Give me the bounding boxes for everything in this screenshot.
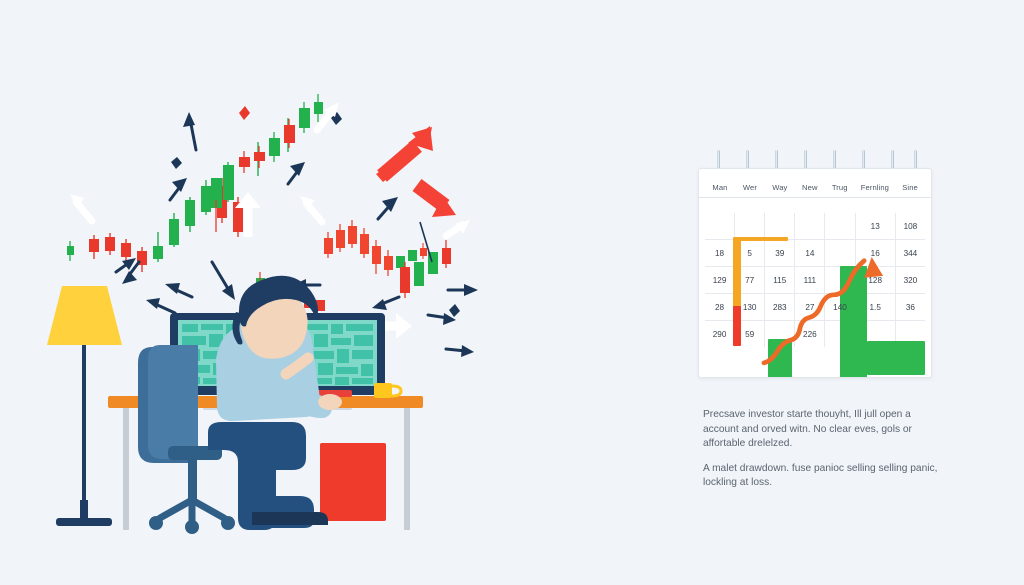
calendar-grid: 13 108 18 5 39 14 16 344 129 77 115 111 … <box>705 213 925 373</box>
calendar-col-header-5: Trug <box>825 183 855 192</box>
bar-green-col3 <box>768 339 792 378</box>
illustration-canvas: Man Wer Way New Trug Fernling Sine <box>0 0 1024 585</box>
caption-paragraph-1: Precsave investor starte thouyht, Ill ju… <box>703 408 939 452</box>
calendar-cell: 115 <box>765 267 795 293</box>
candlestick-cluster-right <box>400 222 451 298</box>
big-red-arrow-up <box>376 126 433 182</box>
calendar-cell: 111 <box>795 267 825 293</box>
calendar-col-header-6: Fernling <box>855 183 895 192</box>
calendar-cell: 129 <box>705 267 735 293</box>
calendar-cell: 226 <box>795 321 825 347</box>
caption-paragraph-2: A malet drawdown. fuse panioc selling se… <box>703 462 939 491</box>
calendar-cell <box>825 240 855 266</box>
calendar-col-header-4: New <box>795 183 825 192</box>
calendar-cell: 108 <box>896 213 925 239</box>
coffee-mug <box>374 383 401 398</box>
calendar-cell: 13 <box>856 213 896 239</box>
calendar-cell <box>765 213 795 239</box>
calendar-cell <box>735 213 765 239</box>
calendar-cell: 320 <box>896 267 925 293</box>
calendar-cell: 18 <box>705 240 735 266</box>
calendar-cell: 28 <box>705 294 735 320</box>
bar-red-col1 <box>733 306 740 346</box>
bar-green-row4-right <box>867 341 925 375</box>
desk-calendar[interactable]: Man Wer Way New Trug Fernling Sine <box>698 168 932 378</box>
calendar-col-header-7: Sine <box>895 183 925 192</box>
calendar-cell: 27 <box>795 294 825 320</box>
calendar-cell: 36 <box>896 294 925 320</box>
calendar-cell: 344 <box>896 240 925 266</box>
bar-orange-cap <box>733 237 788 241</box>
calendar-col-header-1: Man <box>705 183 735 192</box>
calendar-col-header-2: Wer <box>735 183 765 192</box>
calendar-cell <box>795 213 825 239</box>
calendar-cell: 16 <box>856 240 896 266</box>
big-red-arrow-down <box>417 185 456 217</box>
calendar-cell: 283 <box>765 294 795 320</box>
calendar-row: 13 108 <box>705 213 925 240</box>
candlestick-cluster-top <box>211 94 323 232</box>
red-folder-box <box>320 443 386 521</box>
calendar-cell <box>705 213 735 239</box>
calendar-cell <box>825 213 855 239</box>
calendar-cell: 39 <box>765 240 795 266</box>
calendar-col-header-3: Way <box>765 183 795 192</box>
calendar-cell: 290 <box>705 321 735 347</box>
calendar-cell: 14 <box>795 240 825 266</box>
investor-scene <box>0 0 700 585</box>
candlestick-cluster-center <box>324 220 427 276</box>
calendar-column-headers: Man Wer Way New Trug Fernling Sine <box>699 169 931 198</box>
caption-block: Precsave investor starte thouyht, Ill ju… <box>703 408 939 501</box>
bar-green-col5 <box>840 266 866 378</box>
